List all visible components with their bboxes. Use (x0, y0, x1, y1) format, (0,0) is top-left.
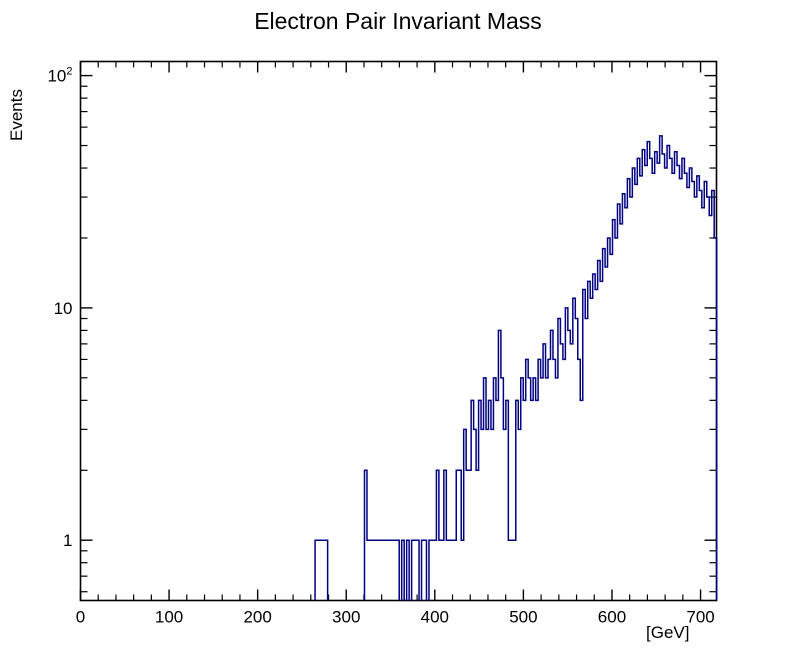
histogram-series (315, 136, 717, 601)
axis-ticks (81, 62, 717, 601)
svg-text:400: 400 (421, 608, 449, 627)
histogram-plot: 0100200300400500600700110102 (0, 0, 796, 672)
svg-text:500: 500 (509, 608, 537, 627)
svg-text:10: 10 (54, 299, 73, 318)
root-canvas: Electron Pair Invariant Mass Events [GeV… (0, 0, 796, 672)
svg-text:1: 1 (63, 531, 72, 550)
axis-tick-labels: 0100200300400500600700110102 (47, 66, 714, 627)
svg-text:600: 600 (598, 608, 626, 627)
svg-text:200: 200 (243, 608, 271, 627)
svg-text:102: 102 (47, 66, 72, 86)
svg-text:300: 300 (332, 608, 360, 627)
svg-text:100: 100 (155, 608, 183, 627)
svg-text:0: 0 (76, 608, 85, 627)
svg-text:700: 700 (686, 608, 714, 627)
plot-frame (81, 62, 717, 601)
